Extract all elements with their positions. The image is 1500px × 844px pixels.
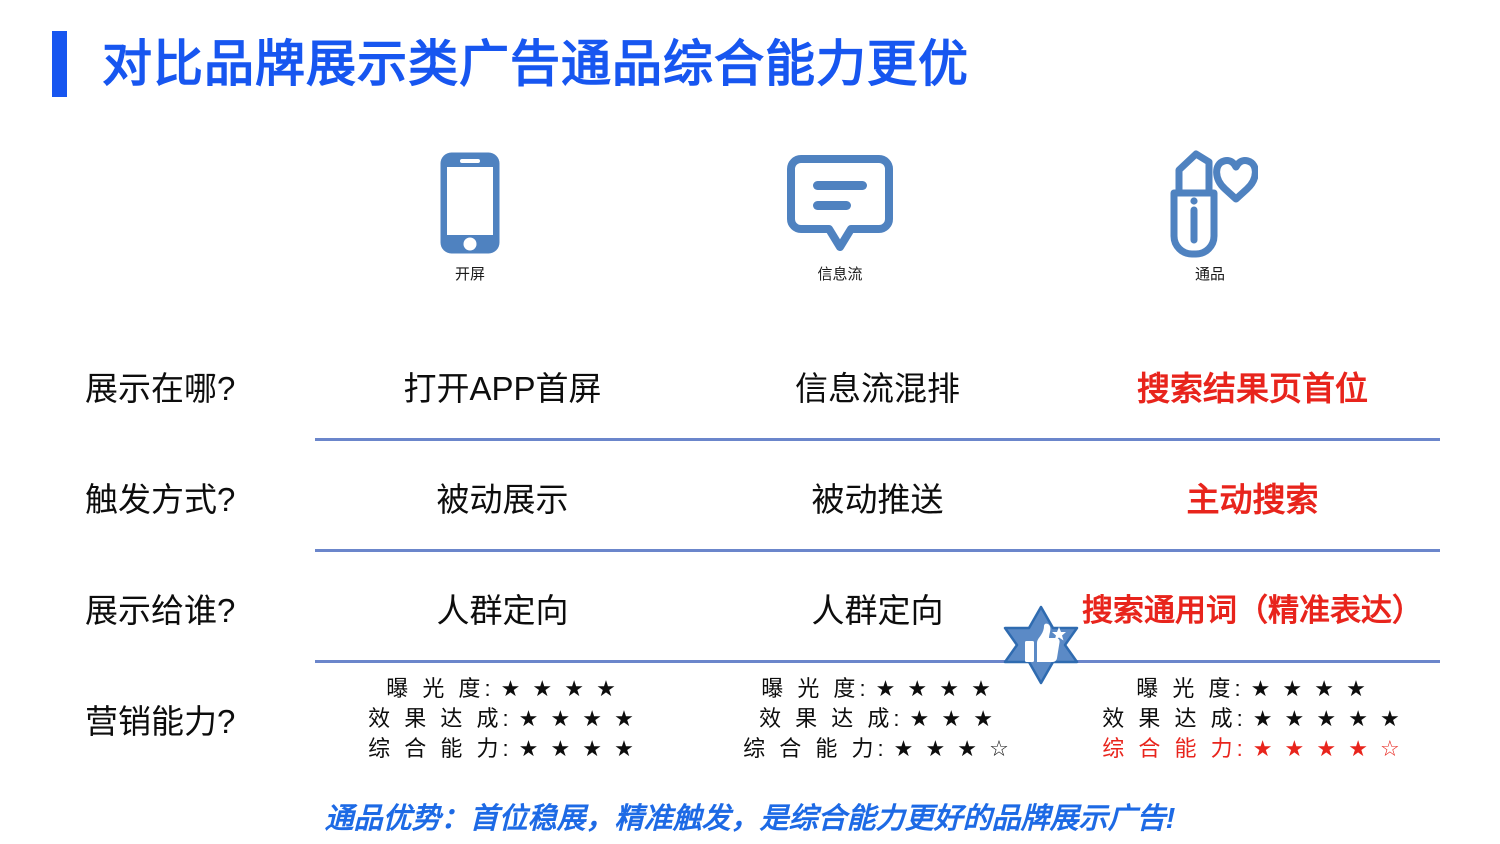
table-row: 展示在哪? 打开APP首屏 信息流混排 搜索结果页首位 xyxy=(60,330,1440,441)
rating-colon: : xyxy=(502,734,508,764)
rating-colon: : xyxy=(859,674,865,704)
footer-summary: 通品优势：首位稳展，精准触发，是综合能力更好的品牌展示广告! xyxy=(0,795,1500,837)
channel-caption: 通品 xyxy=(1195,267,1225,282)
lipstick-heart-icon xyxy=(1162,140,1258,265)
rating-line: 综 合 能 力:★ ★ ★ ☆ xyxy=(743,734,1012,764)
rating-colon: : xyxy=(1234,674,1240,704)
row-values: 人群定向 人群定向 搜索通用词（精准表达） xyxy=(315,584,1440,632)
rating-line: 综 合 能 力:★ ★ ★ ★ xyxy=(368,734,637,764)
row-label: 触发方式? xyxy=(60,473,315,521)
rating-colon: : xyxy=(484,674,490,704)
row-values: 曝 光 度:★ ★ ★ ★ 效 果 达 成:★ ★ ★ ★ 综 合 能 力:★ … xyxy=(315,674,1440,764)
rating-colon: : xyxy=(893,704,899,734)
rating-stars: ★ ★ ★ ★ xyxy=(501,674,619,704)
rating-label: 综 合 能 力 xyxy=(743,734,877,764)
page-title-row: 对比品牌展示类广告通品综合能力更优 xyxy=(52,28,969,100)
channel-caption: 开屏 xyxy=(455,267,485,282)
rating-stars: ★ ★ ★ ★ xyxy=(519,734,637,764)
rating-group-kaiping: 曝 光 度:★ ★ ★ ★ 效 果 达 成:★ ★ ★ ★ 综 合 能 力:★ … xyxy=(315,674,690,764)
table-cell: 信息流混排 xyxy=(690,362,1065,410)
rating-label: 效 果 达 成 xyxy=(1102,704,1236,734)
rating-stars: ★ ★ ★ ★ ☆ xyxy=(1253,734,1403,764)
speech-bubble-icon xyxy=(787,140,893,265)
thumbs-up-star-badge xyxy=(997,605,1085,685)
rating-stars: ★ ★ ★ ☆ xyxy=(894,734,1012,764)
page-title: 对比品牌展示类广告通品综合能力更优 xyxy=(102,39,969,89)
rating-line: 效 果 达 成:★ ★ ★ ★ ★ xyxy=(1102,704,1403,734)
rating-colon: : xyxy=(1237,734,1243,764)
rating-stars: ★ ★ ★ xyxy=(910,704,996,734)
table-cell: 打开APP首屏 xyxy=(315,362,690,410)
table-cell-highlight: 搜索通用词（精准表达） xyxy=(1065,584,1440,632)
channel-icon-row: 开屏 信息流 通品 xyxy=(285,140,1395,305)
rating-group-tongpin: 曝 光 度:★ ★ ★ ★ 效 果 达 成:★ ★ ★ ★ ★ 综 合 能 力:… xyxy=(1065,674,1440,764)
rating-stars: ★ ★ ★ ★ xyxy=(519,704,637,734)
rating-label: 效 果 达 成 xyxy=(759,704,893,734)
channel-caption: 信息流 xyxy=(817,267,862,282)
title-accent-bar xyxy=(52,31,67,97)
rating-label: 曝 光 度 xyxy=(761,674,859,704)
comparison-table: 展示在哪? 打开APP首屏 信息流混排 搜索结果页首位 触发方式? 被动展示 被… xyxy=(60,330,1440,775)
row-values: 打开APP首屏 信息流混排 搜索结果页首位 xyxy=(315,362,1440,410)
rating-colon: : xyxy=(1237,704,1243,734)
channel-column-xinxiliu: 信息流 xyxy=(655,140,1025,305)
channel-column-tongpin: 通品 xyxy=(1025,140,1395,305)
rating-colon: : xyxy=(502,704,508,734)
rating-line: 曝 光 度:★ ★ ★ ★ xyxy=(1136,674,1369,704)
rating-label: 曝 光 度 xyxy=(386,674,484,704)
row-label: 展示在哪? xyxy=(60,362,315,410)
table-cell-highlight: 搜索结果页首位 xyxy=(1065,362,1440,410)
rating-label: 效 果 达 成 xyxy=(368,704,502,734)
rating-line: 效 果 达 成:★ ★ ★ xyxy=(759,704,996,734)
rating-line: 曝 光 度:★ ★ ★ ★ xyxy=(386,674,619,704)
row-label: 营销能力? xyxy=(60,695,315,743)
table-row-ratings: 营销能力? 曝 光 度:★ ★ ★ ★ 效 果 达 成:★ ★ ★ ★ 综 合 … xyxy=(60,663,1440,775)
row-values: 被动展示 被动推送 主动搜索 xyxy=(315,473,1440,521)
rating-label: 综 合 能 力 xyxy=(368,734,502,764)
rating-colon: : xyxy=(877,734,883,764)
channel-column-kaiping: 开屏 xyxy=(285,140,655,305)
rating-stars: ★ ★ ★ ★ xyxy=(1251,674,1369,704)
table-cell: 被动展示 xyxy=(315,473,690,521)
table-cell: 被动推送 xyxy=(690,473,1065,521)
table-cell-highlight: 主动搜索 xyxy=(1065,473,1440,521)
rating-group-xinxiliu: 曝 光 度:★ ★ ★ ★ 效 果 达 成:★ ★ ★ 综 合 能 力:★ ★ … xyxy=(690,674,1065,764)
rating-label: 综 合 能 力 xyxy=(1102,734,1236,764)
rating-stars: ★ ★ ★ ★ xyxy=(876,674,994,704)
table-row: 触发方式? 被动展示 被动推送 主动搜索 xyxy=(60,441,1440,552)
rating-line: 曝 光 度:★ ★ ★ ★ xyxy=(761,674,994,704)
rating-line-highlight: 综 合 能 力:★ ★ ★ ★ ☆ xyxy=(1102,734,1403,764)
rating-label: 曝 光 度 xyxy=(1136,674,1234,704)
table-cell: 人群定向 xyxy=(315,584,690,632)
table-row: 展示给谁? 人群定向 人群定向 搜索通用词（精准表达） xyxy=(60,552,1440,663)
rating-line: 效 果 达 成:★ ★ ★ ★ xyxy=(368,704,637,734)
row-label: 展示给谁? xyxy=(60,584,315,632)
rating-stars: ★ ★ ★ ★ ★ xyxy=(1253,704,1403,734)
phone-icon xyxy=(439,140,501,265)
